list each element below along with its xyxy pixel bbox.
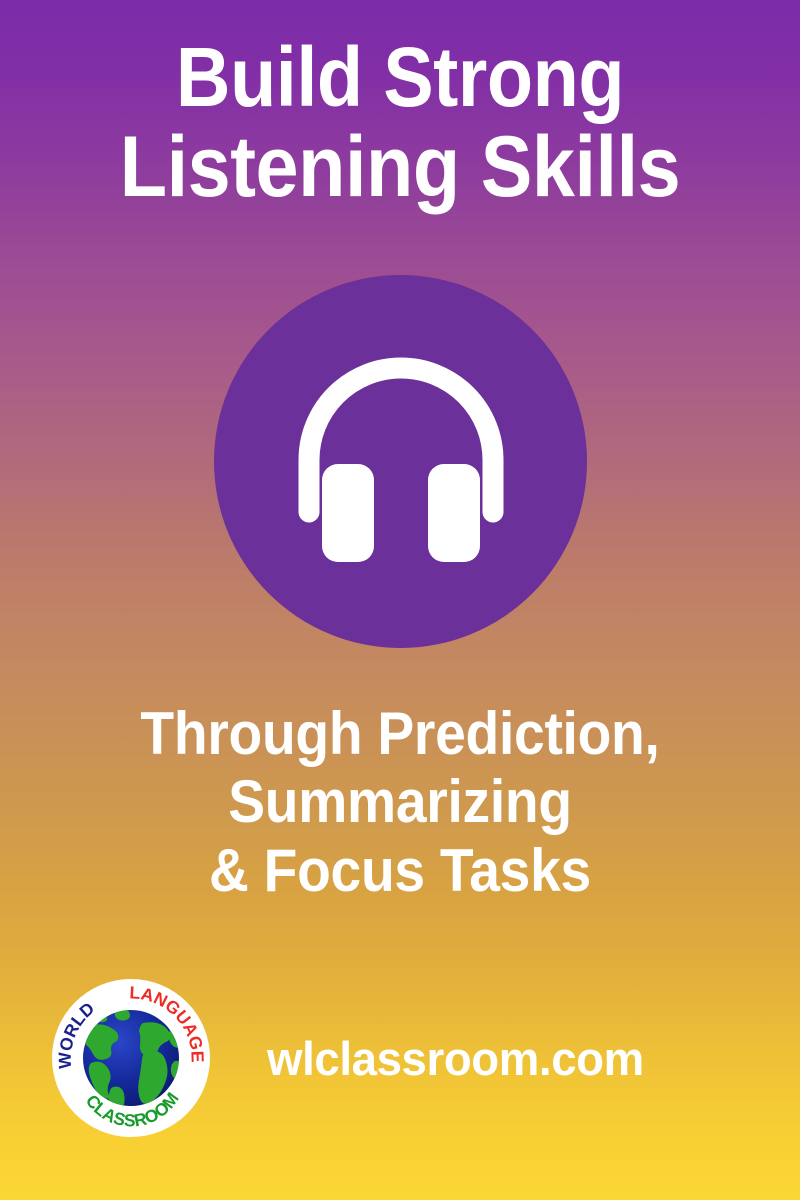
subtitle-line-2: Summarizing bbox=[32, 768, 768, 836]
footer: WORLD LANGUAGE CLASSROOM wlclassroom.com bbox=[0, 968, 800, 1148]
title-line-2: Listening Skills bbox=[40, 125, 760, 210]
page-title: Build Strong Listening Skills bbox=[0, 36, 800, 210]
headphones-icon bbox=[276, 337, 526, 587]
world-language-classroom-logo-icon: WORLD LANGUAGE CLASSROOM bbox=[51, 975, 211, 1141]
title-line-1: Build Strong bbox=[40, 36, 760, 119]
brand-logo[interactable]: WORLD LANGUAGE CLASSROOM bbox=[51, 975, 211, 1141]
site-url[interactable]: wlclassroom.com bbox=[267, 1031, 644, 1086]
subtitle-line-3: & Focus Tasks bbox=[32, 837, 768, 905]
pinterest-pin-graphic: Build Strong Listening Skills Through Pr… bbox=[0, 0, 800, 1200]
subtitle: Through Prediction, Summarizing & Focus … bbox=[0, 700, 800, 905]
headphones-medallion bbox=[214, 275, 587, 648]
subtitle-line-1: Through Prediction, bbox=[32, 700, 768, 768]
